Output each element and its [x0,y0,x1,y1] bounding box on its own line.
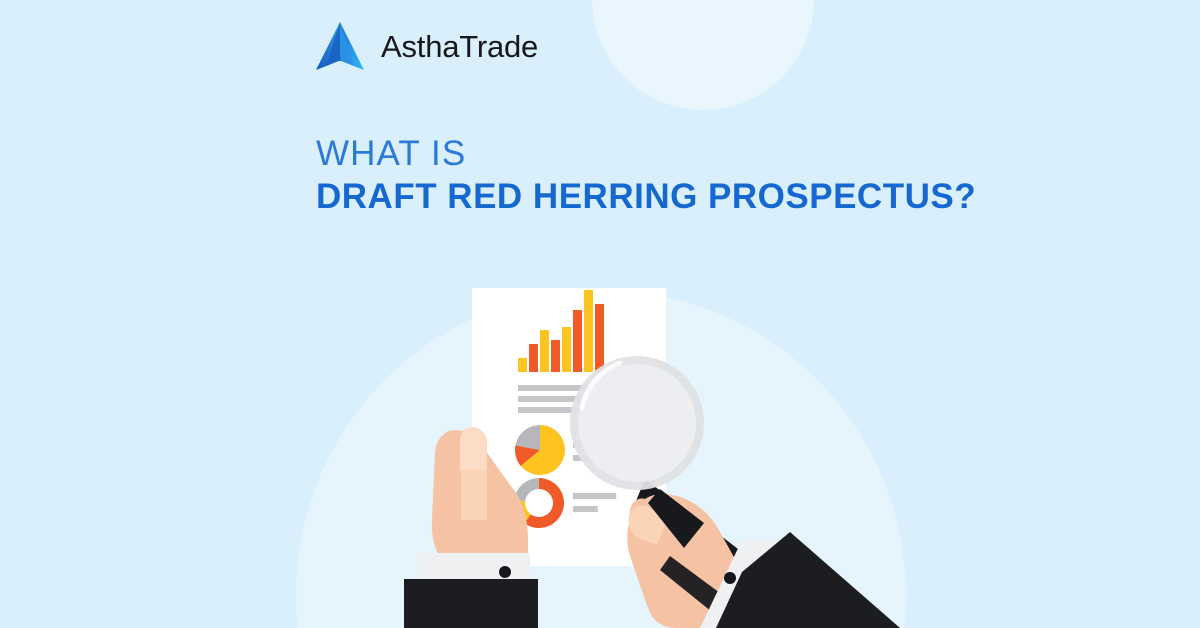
illustration-svg [0,0,1200,628]
report-pie-chart [515,425,565,475]
banner-root: AsthaTrade WHAT IS DRAFT RED HERRING PRO… [0,0,1200,628]
left-sleeve [404,553,538,628]
illustration [0,0,1200,628]
